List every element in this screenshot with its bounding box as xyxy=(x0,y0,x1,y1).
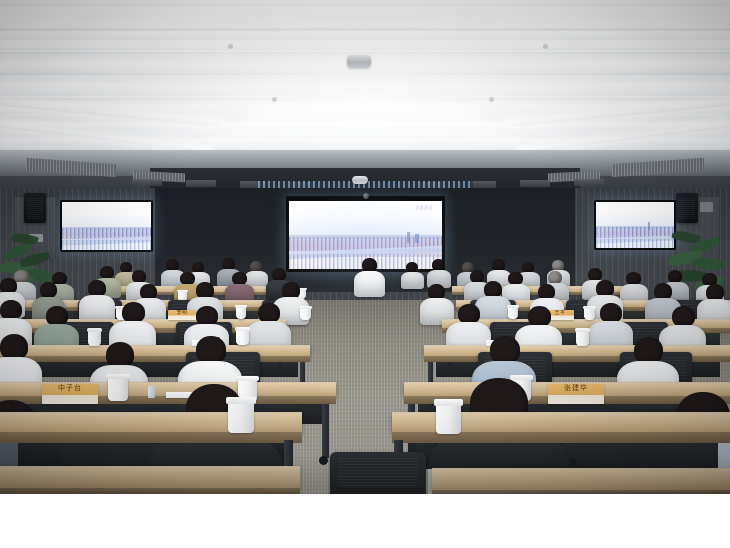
screen-camera-icon xyxy=(363,193,369,199)
right-wall-sign-icon xyxy=(700,202,713,212)
right-screen-content xyxy=(596,202,674,248)
placard-mid-right-text: 王平 xyxy=(554,310,565,316)
placard-front-right-text: 张建华 xyxy=(564,384,588,392)
ceiling-vent-slot xyxy=(520,180,550,187)
ceiling-detector-icon xyxy=(347,55,371,68)
tea-mug xyxy=(236,306,246,319)
water-bottle xyxy=(148,386,155,398)
placard-front-left: 中子台 xyxy=(42,384,98,404)
left-screen-content xyxy=(62,202,151,250)
right-led-screen[interactable] xyxy=(594,200,676,250)
tea-mug xyxy=(584,307,595,320)
screenshot-root: 全面建设 xyxy=(0,0,730,548)
screen-glare xyxy=(62,202,151,250)
bottom-white-margin xyxy=(0,494,730,548)
ceiling-speaker-icon xyxy=(352,176,368,184)
right-wall-speaker-icon xyxy=(676,193,698,223)
placard-front-right: 张建华 xyxy=(548,384,604,404)
left-wall-speaker-icon xyxy=(24,193,46,223)
ceiling-sprinkler-icon xyxy=(228,44,233,49)
placard-front-left-text: 中子台 xyxy=(58,384,82,392)
left-led-screen[interactable] xyxy=(60,200,153,252)
ceiling-sprinkler-icon xyxy=(543,44,548,49)
desk-nearest xyxy=(0,466,300,489)
ceiling-vent-slot xyxy=(574,179,604,186)
tea-mug xyxy=(300,307,311,320)
tea-mug xyxy=(576,330,589,346)
ceiling-sprinkler-icon xyxy=(489,97,494,102)
tea-mug xyxy=(236,329,249,345)
ceiling-sprinkler-icon xyxy=(272,97,277,102)
tea-mug xyxy=(108,376,128,401)
tea-mug xyxy=(88,330,101,346)
tea-mug xyxy=(508,306,518,319)
screen-glare xyxy=(596,202,674,248)
desk-nearest xyxy=(432,468,730,491)
ceiling-light-bloom xyxy=(0,0,730,152)
ceiling-vent-slot xyxy=(470,181,496,188)
placard-mid-left-text: 李明 xyxy=(176,310,187,316)
ceiling-vent-slot xyxy=(186,180,216,187)
tea-mug xyxy=(436,402,461,434)
ceiling-vent-slot xyxy=(132,179,162,186)
tea-mug xyxy=(228,400,254,433)
conference-hall-photo: 全面建设 xyxy=(0,0,730,494)
placard-mid-left: 李明 xyxy=(168,310,196,320)
